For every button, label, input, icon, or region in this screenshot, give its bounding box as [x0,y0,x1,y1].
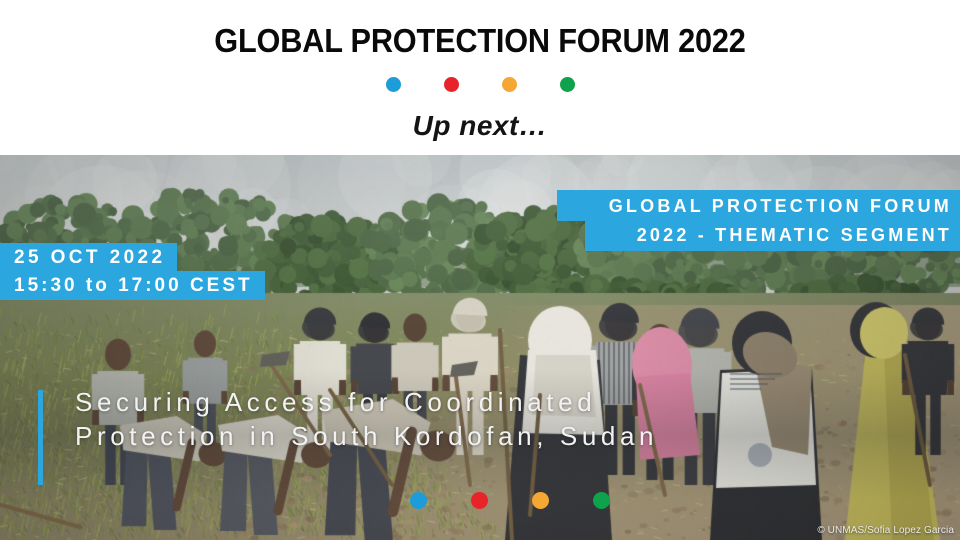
session-title: Securing Access for Coordinated Protecti… [75,385,935,453]
header-dot-row [0,77,960,92]
footer-dot-green-icon [593,492,610,509]
session-title-line-2: Protection in South Kordofan, Sudan [75,419,935,453]
presentation-slide: GLOBAL PROTECTION FORUM 2022 Up next… 25… [0,0,960,540]
footer-dot-red-icon [471,492,488,509]
slide-header: GLOBAL PROTECTION FORUM 2022 Up next… [0,0,960,155]
page-title: GLOBAL PROTECTION FORUM 2022 [34,22,927,60]
dot-orange-icon [502,77,517,92]
dot-green-icon [560,77,575,92]
footer-dot-row [410,492,610,509]
session-date-badge: 25 OCT 2022 [0,243,177,272]
session-title-line-1: Securing Access for Coordinated [75,385,935,419]
footer-dot-orange-icon [532,492,549,509]
event-banner-line-2: 2022 - THEMATIC SEGMENT [585,220,960,251]
session-time-badge: 15:30 to 17:00 CEST [0,271,265,300]
dot-red-icon [444,77,459,92]
photo-credit: © UNMAS/Sofia Lopez Garcia [817,525,954,536]
dot-blue-icon [386,77,401,92]
up-next-label: Up next… [0,110,960,142]
footer-dot-blue-icon [410,492,427,509]
event-banner-line-1: GLOBAL PROTECTION FORUM [557,190,960,221]
accent-bar [38,390,43,485]
session-photo: 25 OCT 2022 15:30 to 17:00 CEST GLOBAL P… [0,155,960,540]
